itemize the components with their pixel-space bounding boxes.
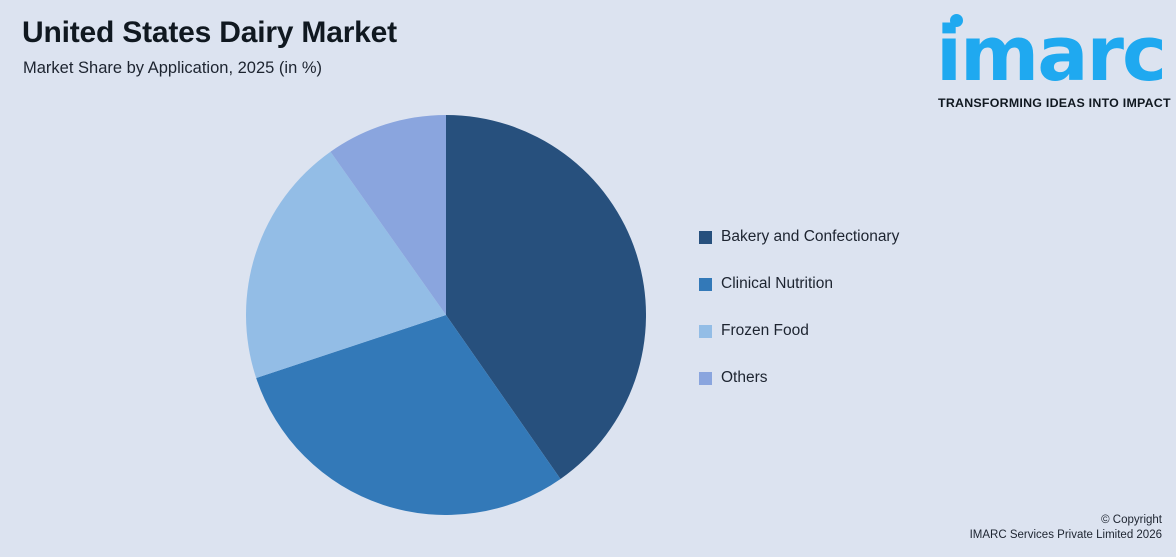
legend-swatch-icon [699, 278, 712, 291]
legend-label: Clinical Nutrition [721, 275, 833, 293]
page-title: United States Dairy Market [22, 16, 397, 50]
imarc-logo: imarc TRANSFORMING IDEAS INTO IMPACT [928, 10, 1168, 108]
pie-chart [246, 115, 646, 515]
legend-item[interactable]: Clinical Nutrition [699, 275, 899, 293]
legend-swatch-icon [699, 372, 712, 385]
logo-tagline: TRANSFORMING IDEAS INTO IMPACT [938, 96, 1171, 110]
legend-label: Others [721, 369, 768, 387]
legend-label: Frozen Food [721, 322, 809, 340]
pie-chart-svg [246, 115, 646, 515]
legend-swatch-icon [699, 325, 712, 338]
page-subtitle: Market Share by Application, 2025 (in %) [23, 59, 322, 78]
legend-swatch-icon [699, 231, 712, 244]
legend-item[interactable]: Others [699, 369, 899, 387]
copyright-line-1: © Copyright [970, 513, 1162, 528]
chart-page: United States Dairy Market Market Share … [0, 0, 1176, 557]
legend-item[interactable]: Frozen Food [699, 322, 899, 340]
legend-label: Bakery and Confectionary [721, 228, 899, 246]
chart-legend: Bakery and ConfectionaryClinical Nutriti… [699, 228, 899, 416]
logo-wordmark: imarc [936, 16, 1165, 92]
copyright-line-2: IMARC Services Private Limited 2026 [970, 528, 1162, 543]
legend-item[interactable]: Bakery and Confectionary [699, 228, 899, 246]
copyright-notice: © Copyright IMARC Services Private Limit… [970, 513, 1162, 543]
